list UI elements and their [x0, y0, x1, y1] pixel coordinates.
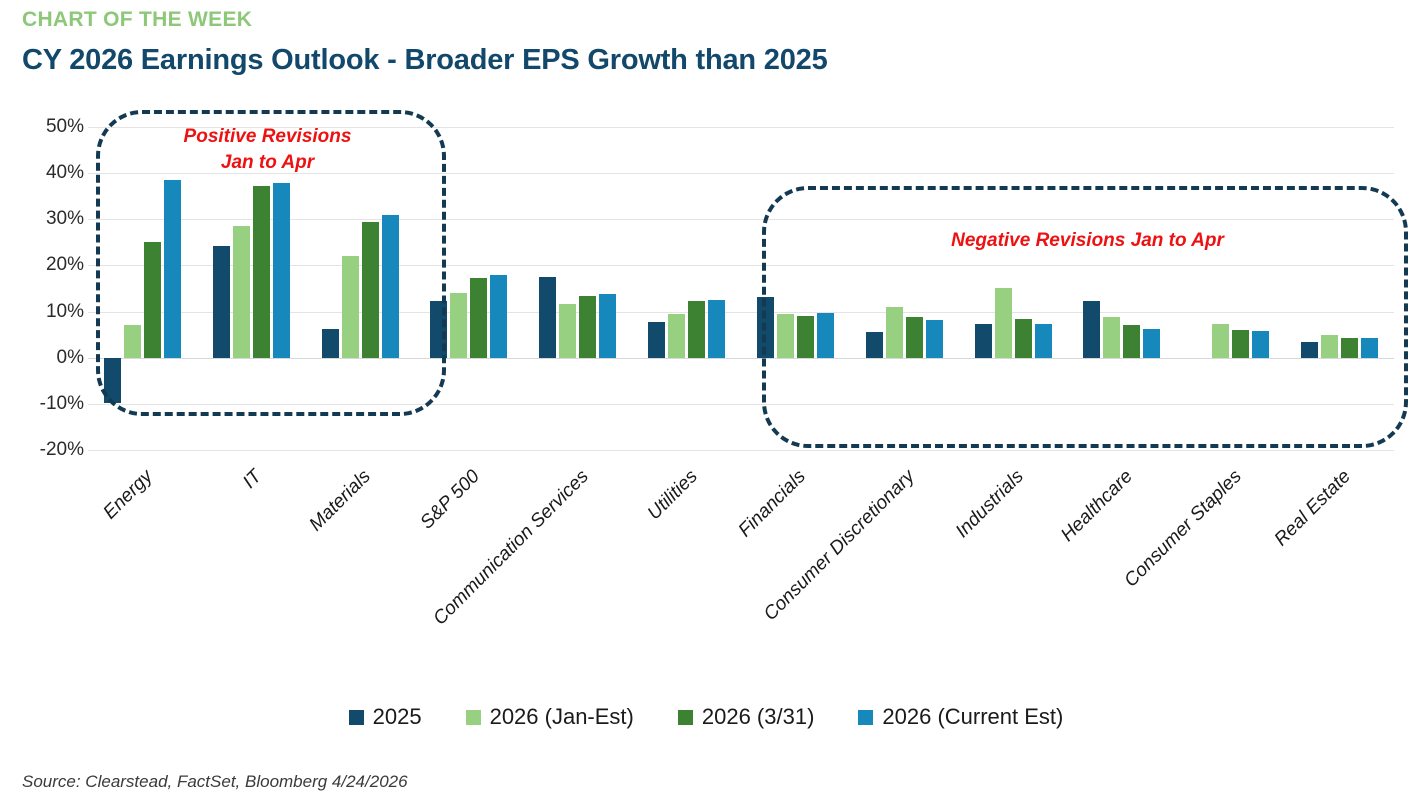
x-axis-tick-label: Real Estate [1270, 466, 1355, 551]
bar[interactable] [1212, 324, 1229, 357]
bar[interactable] [164, 180, 181, 358]
bar[interactable] [539, 277, 556, 358]
bar[interactable] [430, 301, 447, 357]
bar-slot [1035, 127, 1052, 450]
bar[interactable] [1035, 324, 1052, 357]
bar[interactable] [362, 222, 379, 358]
bar[interactable] [777, 314, 794, 357]
x-axis-tick-label: Utilities [643, 466, 702, 525]
legend-swatch [858, 710, 873, 725]
bar[interactable] [1143, 329, 1160, 358]
bar-group [959, 127, 1068, 450]
bar-group [306, 127, 415, 450]
x-axis-tick-label: Financials [735, 466, 811, 542]
bar-slot [975, 127, 992, 450]
bar-slot [797, 127, 814, 450]
bar-group [1176, 127, 1285, 450]
source-note: Source: Clearstead, FactSet, Bloomberg 4… [22, 772, 408, 792]
bar[interactable] [273, 183, 290, 357]
bar-slot [886, 127, 903, 450]
gridline [88, 450, 1394, 451]
legend-swatch [349, 710, 364, 725]
bar-slot [273, 127, 290, 450]
legend-item[interactable]: 2025 [349, 704, 422, 730]
bar[interactable] [995, 288, 1012, 358]
bar-slot [253, 127, 270, 450]
bar-slot [688, 127, 705, 450]
bar[interactable] [1083, 301, 1100, 357]
bar[interactable] [1321, 335, 1338, 358]
bar-slot [470, 127, 487, 450]
bar[interactable] [926, 320, 943, 358]
bar[interactable] [1341, 338, 1358, 357]
bar-group [632, 127, 741, 450]
bar-slot [233, 127, 250, 450]
x-axis-tick-label: Industrials [952, 466, 1029, 543]
bar[interactable] [490, 275, 507, 358]
bar[interactable] [579, 296, 596, 357]
bar[interactable] [975, 324, 992, 358]
bar[interactable] [470, 278, 487, 357]
bar-slot [104, 127, 121, 450]
bar-slot [817, 127, 834, 450]
x-axis-tick-label: IT [239, 466, 266, 493]
bar-group [197, 127, 306, 450]
bar-groups [88, 127, 1394, 450]
bar-slot [539, 127, 556, 450]
bar-slot [1232, 127, 1249, 450]
bar-slot [430, 127, 447, 450]
bar-slot [490, 127, 507, 450]
bar-slot [124, 127, 141, 450]
legend-label: 2026 (Jan-Est) [490, 704, 634, 730]
bar-slot [906, 127, 923, 450]
bar[interactable] [906, 317, 923, 358]
bar-slot [757, 127, 774, 450]
bar[interactable] [1252, 331, 1269, 357]
bar-slot [668, 127, 685, 450]
bar-slot [559, 127, 576, 450]
bar[interactable] [688, 301, 705, 357]
page-title: CY 2026 Earnings Outlook - Broader EPS G… [22, 44, 828, 77]
bar[interactable] [382, 215, 399, 358]
kicker-label: CHART OF THE WEEK [22, 8, 252, 32]
bar-slot [1143, 127, 1160, 450]
bar[interactable] [708, 300, 725, 357]
bar-slot [144, 127, 161, 450]
y-axis-tick-label: 0% [0, 347, 84, 369]
bar[interactable] [668, 314, 685, 357]
bar-slot [579, 127, 596, 450]
bar-slot [1103, 127, 1120, 450]
bar-slot [599, 127, 616, 450]
bar-slot [1321, 127, 1338, 450]
bar-slot [708, 127, 725, 450]
bar[interactable] [124, 325, 141, 357]
bar[interactable] [866, 332, 883, 357]
x-axis-tick-label: Materials [306, 466, 376, 536]
y-axis-tick-label: -20% [0, 439, 84, 461]
bar-slot [995, 127, 1012, 450]
legend-label: 2025 [373, 704, 422, 730]
bar[interactable] [1301, 342, 1318, 357]
bar-slot [322, 127, 339, 450]
bar[interactable] [322, 329, 339, 358]
bar[interactable] [1361, 338, 1378, 358]
bar[interactable] [450, 293, 467, 358]
bar-group [414, 127, 523, 450]
bar[interactable] [886, 307, 903, 358]
bar[interactable] [253, 186, 270, 358]
bar-group [850, 127, 959, 450]
bar-group [523, 127, 632, 450]
bar-slot [1123, 127, 1140, 450]
bar-slot [1252, 127, 1269, 450]
bar[interactable] [1103, 317, 1120, 358]
bar[interactable] [559, 304, 576, 358]
legend-item[interactable]: 2026 (Current Est) [858, 704, 1063, 730]
y-axis-tick-label: 10% [0, 301, 84, 323]
x-axis-tick-label: Consumer Staples [1120, 466, 1246, 592]
chart-plot-area: 50%40%30%20%10%0%-10%-20% [88, 127, 1394, 450]
legend-item[interactable]: 2026 (Jan-Est) [466, 704, 634, 730]
bar[interactable] [757, 297, 774, 358]
bar-group [1067, 127, 1176, 450]
chart-legend: 20252026 (Jan-Est)2026 (3/31)2026 (Curre… [0, 704, 1412, 730]
bar-slot [362, 127, 379, 450]
y-axis-tick-label: -10% [0, 393, 84, 415]
x-axis-tick-label: Healthcare [1057, 466, 1138, 547]
x-axis-tick-label: Energy [100, 466, 158, 524]
bar-slot [866, 127, 883, 450]
bar[interactable] [599, 294, 616, 358]
legend-label: 2026 (3/31) [702, 704, 815, 730]
bar-slot [926, 127, 943, 450]
bar-slot [1361, 127, 1378, 450]
legend-swatch [466, 710, 481, 725]
bar[interactable] [797, 316, 814, 358]
legend-label: 2026 (Current Est) [882, 704, 1063, 730]
legend-swatch [678, 710, 693, 725]
bar[interactable] [1015, 319, 1032, 357]
bar-slot [1301, 127, 1318, 450]
x-axis-tick-label: S&P 500 [416, 466, 484, 534]
bar[interactable] [213, 246, 230, 358]
bar-slot [164, 127, 181, 450]
y-axis-tick-label: 30% [0, 208, 84, 230]
bar[interactable] [817, 313, 834, 357]
bar-slot [1341, 127, 1358, 450]
bar-slot [1212, 127, 1229, 450]
bar-slot [1192, 127, 1209, 450]
bar[interactable] [1232, 330, 1249, 358]
bar[interactable] [144, 242, 161, 357]
bar[interactable] [648, 322, 665, 358]
legend-item[interactable]: 2026 (3/31) [678, 704, 815, 730]
bar-group [88, 127, 197, 450]
bar-slot [342, 127, 359, 450]
bar[interactable] [104, 358, 121, 403]
bar-slot [213, 127, 230, 450]
y-axis-tick-label: 20% [0, 254, 84, 276]
bar[interactable] [233, 226, 250, 358]
y-axis-tick-label: 50% [0, 116, 84, 138]
bar-slot [777, 127, 794, 450]
bar-slot [382, 127, 399, 450]
positive-revisions-callout-label: Positive Revisions Jan to Apr [165, 124, 370, 175]
negative-revisions-callout-label: Negative Revisions Jan to Apr [895, 228, 1280, 254]
bar-slot [450, 127, 467, 450]
bar-slot [1015, 127, 1032, 450]
bar[interactable] [1123, 325, 1140, 357]
bar-slot [1083, 127, 1100, 450]
bar-slot [648, 127, 665, 450]
bar[interactable] [342, 256, 359, 358]
y-axis-tick-label: 40% [0, 162, 84, 184]
bar-group [741, 127, 850, 450]
bar-group [1285, 127, 1394, 450]
